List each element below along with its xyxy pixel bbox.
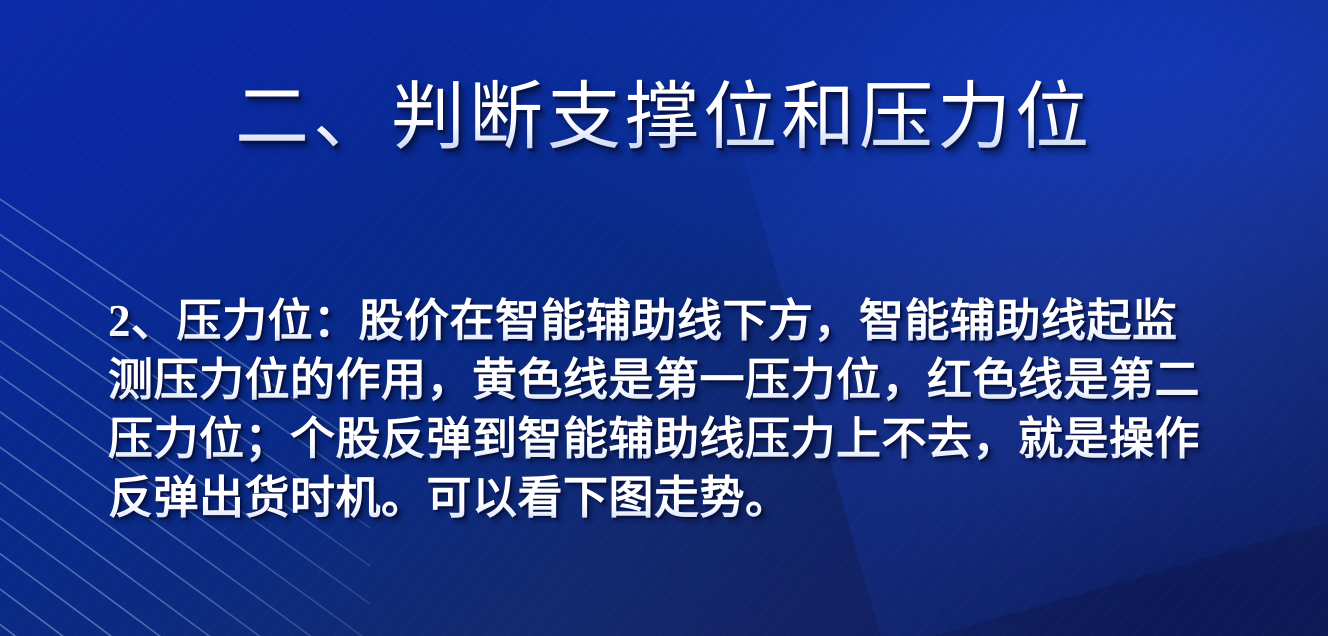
body-line: 压力位；个股反弹到智能辅助线压力上不去，就是操作 xyxy=(108,410,1288,469)
body-line: 2、压力位：股价在智能辅助线下方，智能辅助线起监 xyxy=(108,292,1288,351)
slide-title-container: 二、判断支撑位和压力位 xyxy=(0,26,1328,211)
body-line: 测压力位的作用，黄色线是第一压力位，红色线是第二 xyxy=(108,351,1288,410)
presentation-slide: 二、判断支撑位和压力位 2、压力位：股价在智能辅助线下方，智能辅助线起监 测压力… xyxy=(0,0,1328,636)
body-line: 反弹出货时机。可以看下图走势。 xyxy=(108,469,1288,528)
slide-body-text: 2、压力位：股价在智能辅助线下方，智能辅助线起监 测压力位的作用，黄色线是第一压… xyxy=(108,292,1288,528)
slide-title: 二、判断支撑位和压力位 xyxy=(235,76,1093,162)
